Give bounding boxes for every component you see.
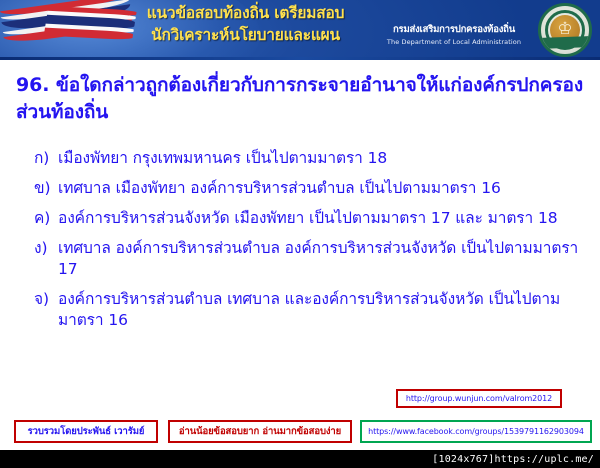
answer-choice[interactable]: ก) เมืองพัทยา กรุงเทพมหานคร เป็นไปตามมาต… [34, 148, 590, 169]
emblem-banner-band [538, 36, 592, 49]
choice-text: องค์การบริหารส่วนจังหวัด เมืองพัทยา เป็น… [58, 208, 590, 229]
question-text: 96. ข้อใดกล่าวถูกต้องเกี่ยวกับการกระจายอ… [16, 72, 586, 126]
choice-label: ข) [34, 178, 58, 199]
motto-box: อ่านน้อยข้อสอบยาก อ่านมากข้อสอบง่าย [168, 420, 352, 443]
facebook-link-box[interactable]: https://www.facebook.com/groups/15397911… [360, 420, 592, 443]
department-emblem-icon: ♔ [538, 3, 592, 57]
choice-label: ค) [34, 208, 58, 229]
footer-row: รวบรวมโดยประพันธ์ เวารัมย์ อ่านน้อยข้อสอ… [0, 420, 600, 446]
choice-text: องค์การบริหารส่วนตำบล เทศบาล และองค์การบ… [58, 289, 590, 331]
credit-box: รวบรวมโดยประพันธ์ เวารัมย์ [14, 420, 158, 443]
banner-title-group: แนวข้อสอบท้องถิ่น เตรียมสอบ นักวิเคราะห์… [118, 4, 373, 46]
slide-page: แนวข้อสอบท้องถิ่น เตรียมสอบ นักวิเคราะห์… [0, 0, 600, 450]
choice-text: เทศบาล องค์การบริหารส่วนตำบล องค์การบริห… [58, 238, 590, 280]
answer-choice-list: ก) เมืองพัทยา กรุงเทพมหานคร เป็นไปตามมาต… [34, 148, 590, 339]
department-name-english: The Department of Local Administration [378, 38, 530, 46]
group-link-box[interactable]: http://group.wunjun.com/valrom2012 [396, 389, 562, 408]
department-name-block: กรมส่งเสริมการปกครองท้องถิ่น The Departm… [378, 22, 530, 46]
header-banner: แนวข้อสอบท้องถิ่น เตรียมสอบ นักวิเคราะห์… [0, 0, 600, 60]
choice-label: ก) [34, 148, 58, 169]
banner-title-line2: นักวิเคราะห์นโยบายและแผน [118, 26, 373, 45]
answer-choice[interactable]: ข) เทศบาล เมืองพัทยา องค์การบริหารส่วนตำ… [34, 178, 590, 199]
choice-label: จ) [34, 289, 58, 310]
watermark-bar: [1024x767]https://uplc.me/ [0, 450, 600, 468]
choice-text: เทศบาล เมืองพัทยา องค์การบริหารส่วนตำบล … [58, 178, 590, 199]
choice-label: ง) [34, 238, 58, 259]
choice-text: เมืองพัทยา กรุงเทพมหานคร เป็นไปตามมาตรา … [58, 148, 590, 169]
answer-choice[interactable]: จ) องค์การบริหารส่วนตำบล เทศบาล และองค์ก… [34, 289, 590, 331]
banner-bottom-divider [0, 57, 600, 60]
answer-choice[interactable]: ค) องค์การบริหารส่วนจังหวัด เมืองพัทยา เ… [34, 208, 590, 229]
department-name-thai: กรมส่งเสริมการปกครองท้องถิ่น [378, 22, 530, 37]
banner-title-line1: แนวข้อสอบท้องถิ่น เตรียมสอบ [118, 4, 373, 23]
answer-choice[interactable]: ง) เทศบาล องค์การบริหารส่วนตำบล องค์การบ… [34, 238, 590, 280]
